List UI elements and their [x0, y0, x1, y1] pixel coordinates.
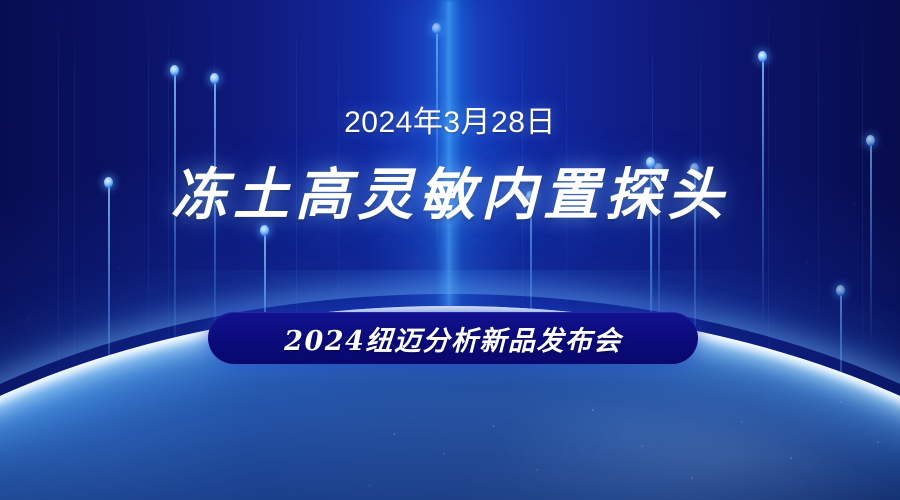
subtitle-pill: 2024纽迈分析新品发布会 — [208, 312, 698, 364]
event-date: 2024年3月28日 — [344, 105, 556, 141]
subtitle-text: 2024纽迈分析新品发布会 — [284, 319, 622, 358]
event-banner: 2024年3月28日 冻土高灵敏内置探头 2024纽迈分析新品发布会 — [0, 0, 900, 500]
banner-content: 2024年3月28日 冻土高灵敏内置探头 — [0, 0, 900, 500]
main-title: 冻土高灵敏内置探头 — [171, 165, 729, 227]
